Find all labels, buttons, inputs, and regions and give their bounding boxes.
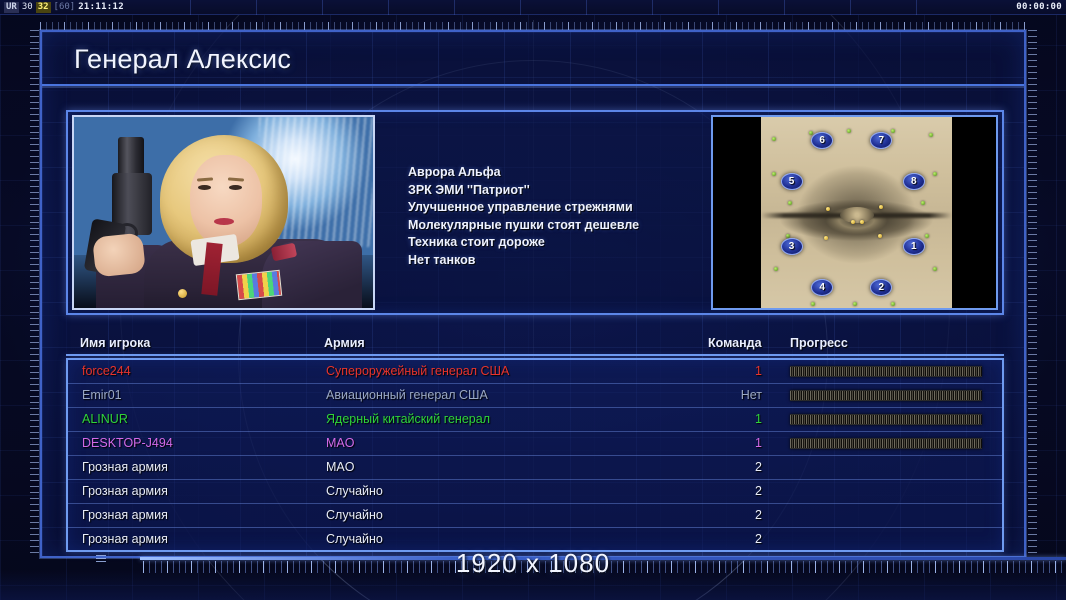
player-progress-bar xyxy=(790,366,982,377)
player-army[interactable]: Случайно xyxy=(326,508,383,522)
minimap-resource-icon xyxy=(860,220,864,224)
general-info-panel: Аврора Альфа ЗРК ЭМИ ''Патриот'' Улучшен… xyxy=(66,110,1004,315)
table-row[interactable]: Грозная армияMAO2 xyxy=(68,456,1002,480)
player-army[interactable]: MAO xyxy=(326,460,354,474)
player-progress-bar xyxy=(790,438,982,449)
hud-value-1: 30 xyxy=(22,2,33,13)
column-header-progress: Прогресс xyxy=(790,336,848,350)
portrait-eye-right xyxy=(229,185,242,190)
minimap-resource-icon xyxy=(824,236,828,240)
ruler-left xyxy=(30,30,39,558)
table-row[interactable]: Грозная армияСлучайно2 xyxy=(68,480,1002,504)
table-row[interactable]: force244Супероружейный генерал США1 xyxy=(68,360,1002,384)
bonus-line: Улучшенное управление стрежнями xyxy=(408,199,639,217)
minimap-resource-icon xyxy=(853,302,857,306)
minimap-resource-icon xyxy=(879,205,883,209)
hud-value-2: 32 xyxy=(36,2,51,13)
table-row[interactable]: Грозная армияСлучайно2 xyxy=(68,504,1002,528)
minimap-resource-icon xyxy=(921,201,925,205)
minimap-resource-icon xyxy=(933,172,937,176)
player-team[interactable]: 2 xyxy=(710,532,762,546)
minimap-start-position[interactable]: 7 xyxy=(870,132,892,149)
bonus-line: Нет танков xyxy=(408,252,639,270)
player-team[interactable]: 1 xyxy=(710,412,762,426)
general-portrait xyxy=(72,115,375,310)
player-team[interactable]: 1 xyxy=(710,436,762,450)
minimap-resource-icon xyxy=(774,267,778,271)
minimap-resource-icon xyxy=(772,137,776,141)
player-name: DESKTOP-J494 xyxy=(82,436,173,450)
portrait-button xyxy=(178,289,187,298)
minimap-center-feature xyxy=(840,207,874,223)
portrait-lips xyxy=(214,218,234,225)
portrait-hand xyxy=(92,232,146,277)
player-table-header: Имя игрока Армия Команда Прогресс xyxy=(66,334,1004,356)
player-army[interactable]: Случайно xyxy=(326,484,383,498)
minimap-start-position[interactable]: 8 xyxy=(903,173,925,190)
player-name: Грозная армия xyxy=(82,484,168,498)
player-team[interactable]: 2 xyxy=(710,508,762,522)
minimap-resource-icon xyxy=(933,267,937,271)
player-name: Грозная армия xyxy=(82,460,168,474)
player-name: ALINUR xyxy=(82,412,128,426)
title-band: Генерал Алексис xyxy=(42,32,1024,86)
minimap-start-position[interactable]: 1 xyxy=(903,238,925,255)
minimap-resource-icon xyxy=(891,129,895,133)
minimap-resource-icon xyxy=(929,133,933,137)
minimap-resource-icon xyxy=(925,234,929,238)
minimap-resource-icon xyxy=(878,234,882,238)
topbar-grid xyxy=(190,0,976,15)
table-row[interactable]: ALINURЯдерный китайский генерал1 xyxy=(68,408,1002,432)
table-row[interactable]: Emir01Авиационный генерал СШАНет xyxy=(68,384,1002,408)
portrait-medals xyxy=(236,270,282,300)
bonus-line: Аврора Альфа xyxy=(408,164,639,182)
player-team[interactable]: Нет xyxy=(710,388,762,402)
hud-value-3: [60] xyxy=(54,2,76,13)
player-name: force244 xyxy=(82,364,131,378)
minimap-start-position[interactable]: 6 xyxy=(811,132,833,149)
resolution-label: 1920 x 1080 xyxy=(0,548,1066,579)
player-progress-bar xyxy=(790,414,982,425)
player-team[interactable]: 1 xyxy=(710,364,762,378)
player-army[interactable]: Случайно xyxy=(326,532,383,546)
column-header-team: Команда xyxy=(708,336,762,350)
table-row[interactable]: DESKTOP-J494MAO1 xyxy=(68,432,1002,456)
minimap-resource-icon xyxy=(772,172,776,176)
hud-clock: 21:11:12 xyxy=(78,2,124,13)
player-army[interactable]: Авиационный генерал США xyxy=(326,388,488,402)
player-name: Emir01 xyxy=(82,388,122,402)
player-team[interactable]: 2 xyxy=(710,484,762,498)
minimap-start-position[interactable]: 5 xyxy=(781,173,803,190)
portrait-face xyxy=(190,155,262,247)
general-bonus-list: Аврора Альфа ЗРК ЭМИ ''Патриот'' Улучшен… xyxy=(408,164,639,270)
top-status-bar: UR 30 32 [60] 21:11:12 00:00:00 xyxy=(0,0,1066,15)
page-title: Генерал Алексис xyxy=(74,44,291,75)
main-panel: Генерал Алексис xyxy=(40,30,1026,558)
minimap-start-position[interactable]: 2 xyxy=(870,279,892,296)
minimap-resource-icon xyxy=(809,131,813,135)
minimap-resource-icon xyxy=(847,129,851,133)
hud-stats: UR 30 32 [60] 21:11:12 xyxy=(4,2,124,13)
minimap-terrain: 67583142 xyxy=(761,117,952,310)
player-progress-bar xyxy=(790,390,982,401)
column-header-army: Армия xyxy=(324,336,365,350)
player-name: Грозная армия xyxy=(82,532,168,546)
minimap-start-position[interactable]: 3 xyxy=(781,238,803,255)
player-army[interactable]: Супероружейный генерал США xyxy=(326,364,509,378)
column-header-name: Имя игрока xyxy=(80,336,150,350)
minimap-start-position[interactable]: 4 xyxy=(811,279,833,296)
hud-timer-right: 00:00:00 xyxy=(1016,2,1062,13)
bonus-line: Молекулярные пушки стоят дешевле xyxy=(408,217,639,235)
minimap[interactable]: 67583142 xyxy=(711,115,998,310)
portrait-eye-left xyxy=(198,185,211,190)
player-army[interactable]: MAO xyxy=(326,436,354,450)
minimap-resource-icon xyxy=(826,207,830,211)
player-army[interactable]: Ядерный китайский генерал xyxy=(326,412,490,426)
player-name: Грозная армия xyxy=(82,508,168,522)
minimap-resource-icon xyxy=(811,302,815,306)
ruler-right xyxy=(1028,30,1037,558)
minimap-resource-icon xyxy=(788,201,792,205)
hud-tag: UR xyxy=(4,2,19,13)
bonus-line: ЗРК ЭМИ ''Патриот'' xyxy=(408,182,639,200)
bonus-line: Техника стоит дороже xyxy=(408,234,639,252)
minimap-resource-icon xyxy=(891,302,895,306)
minimap-resource-icon xyxy=(851,220,855,224)
player-list: force244Супероружейный генерал США1Emir0… xyxy=(66,358,1004,552)
player-team[interactable]: 2 xyxy=(710,460,762,474)
portrait-button xyxy=(164,309,173,310)
game-lobby-screen: UR 30 32 [60] 21:11:12 00:00:00 Генерал … xyxy=(0,0,1066,600)
